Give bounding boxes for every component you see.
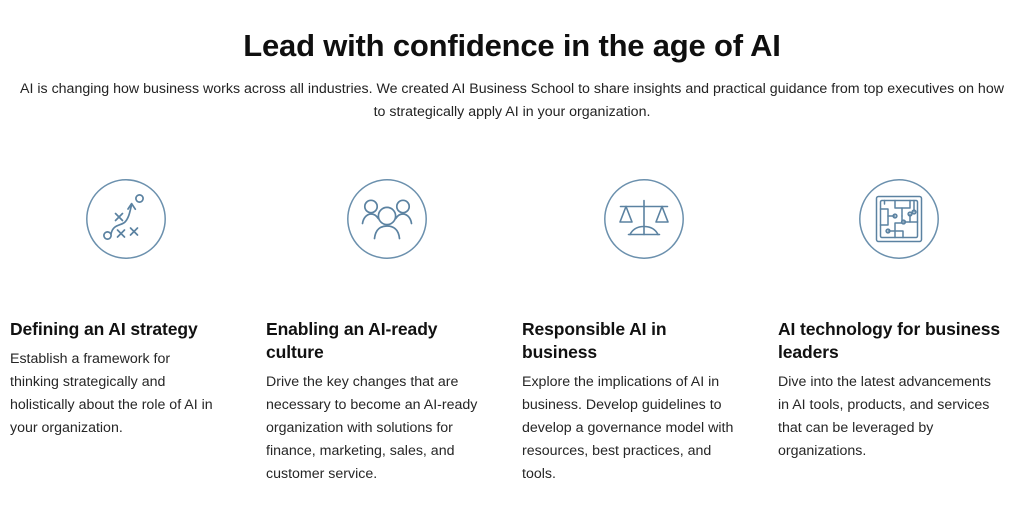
page-title: Lead with confidence in the age of AI (0, 28, 1024, 64)
feature-card-title: Enabling an AI-ready culture (266, 318, 488, 364)
people-group-icon (346, 178, 428, 260)
feature-card-body: Dive into the latest advancements in AI … (778, 371, 1000, 463)
page-subtitle: AI is changing how business works across… (14, 78, 1010, 124)
strategy-playbook-icon (85, 178, 167, 260)
feature-card-body: Drive the key changes that are necessary… (266, 371, 488, 486)
circuit-chip-icon (858, 178, 940, 260)
hero-section: Lead with confidence in the age of AI AI… (0, 0, 1024, 124)
page-root: Lead with confidence in the age of AI AI… (0, 0, 1024, 526)
feature-card-title: Defining an AI strategy (10, 318, 232, 341)
feature-card-body: Explore the implications of AI in busine… (522, 371, 744, 486)
balance-scale-icon (603, 178, 685, 260)
feature-card-responsible-ai-in-business[interactable]: Responsible AI in business Explore the i… (512, 178, 768, 486)
feature-card-enabling-an-ai-ready-culture[interactable]: Enabling an AI-ready culture Drive the k… (256, 178, 512, 486)
feature-card-title: AI technology for business leaders (778, 318, 1000, 364)
feature-card-body: Establish a framework for thinking strat… (10, 348, 232, 440)
feature-card-grid: Defining an AI strategy Establish a fram… (0, 178, 1024, 486)
feature-card-ai-technology-for-business-leaders[interactable]: AI technology for business leaders Dive … (768, 178, 1024, 486)
feature-card-title: Responsible AI in business (522, 318, 744, 364)
feature-card-defining-an-ai-strategy[interactable]: Defining an AI strategy Establish a fram… (0, 178, 256, 486)
